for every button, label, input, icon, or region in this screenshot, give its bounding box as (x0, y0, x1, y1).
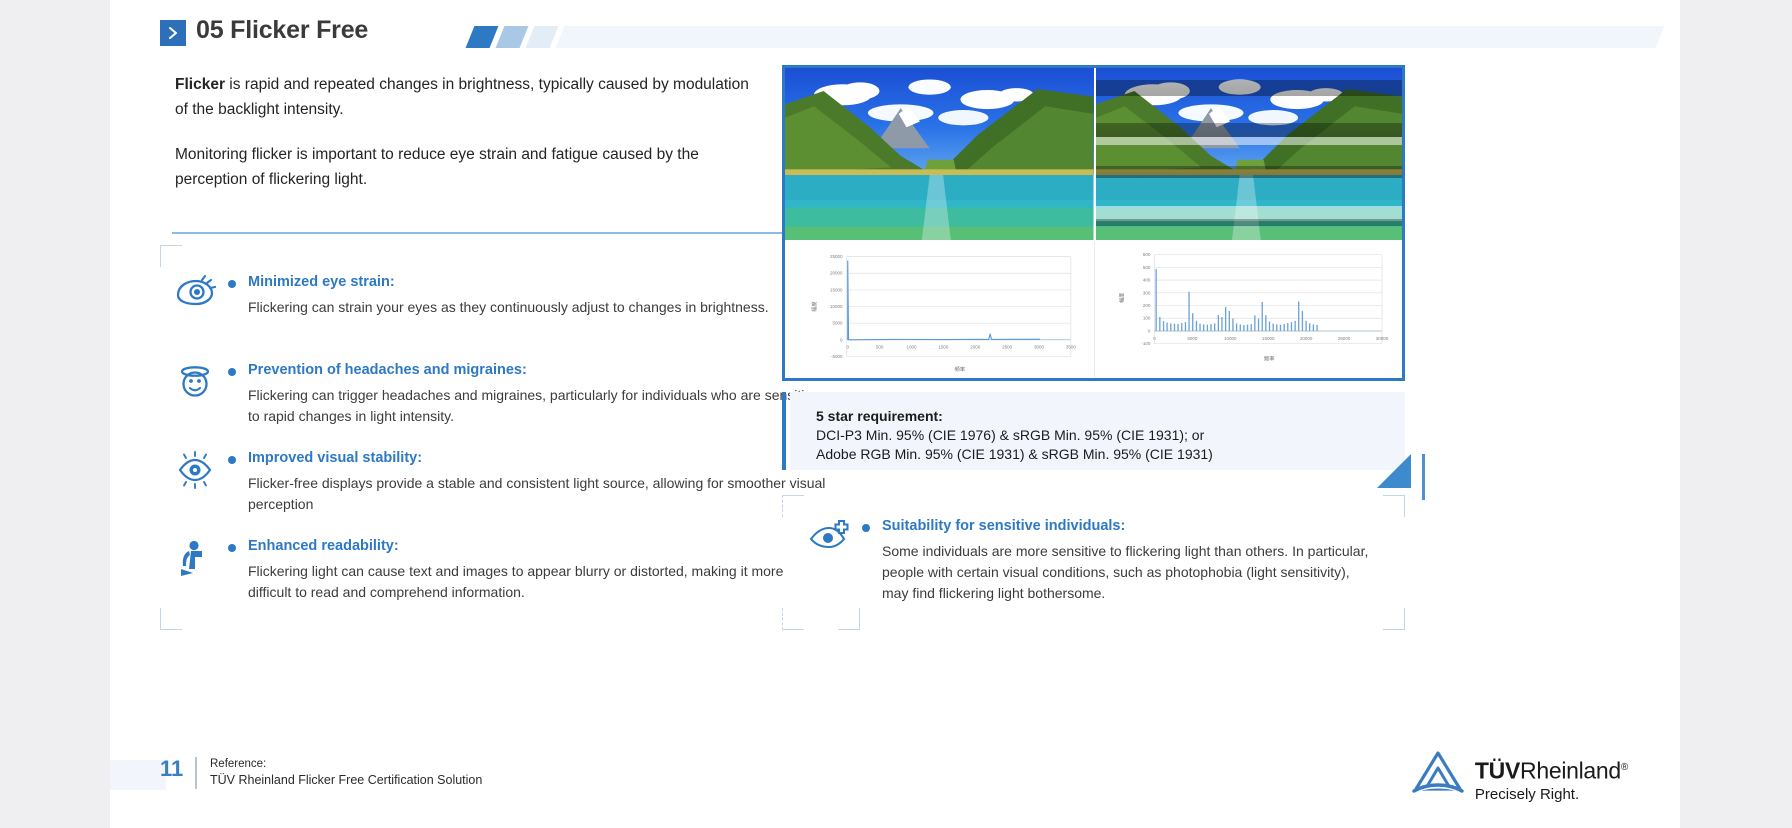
svg-text:3500: 3500 (1066, 345, 1077, 350)
deco-stripe-2 (496, 26, 529, 48)
flicker-band (1096, 123, 1403, 137)
flicker-comparison-panel: 25000 20000 15000 10000 5000 0 -5000 0 5… (782, 65, 1405, 381)
benefit-marker (854, 517, 878, 535)
deco-stripe-3 (526, 26, 559, 48)
benefit-marker (220, 273, 244, 291)
slide-header: 05 Flicker Free (160, 12, 1660, 58)
bullet-dot (228, 544, 236, 552)
intro-paragraph-1-rest: is rapid and repeated changes in brightn… (175, 76, 749, 118)
bracket-top-left (782, 495, 804, 517)
connector-line (170, 186, 870, 242)
benefit-title: Enhanced readability: (248, 537, 830, 556)
svg-text:20000: 20000 (1299, 336, 1312, 341)
bracket-bottom-left (782, 608, 804, 630)
tuv-tagline: Precisely Right. (1475, 785, 1628, 805)
bullet-dot (228, 456, 236, 464)
right-margin (1680, 0, 1792, 828)
benefit-item-enhanced-readability: Enhanced readability: Flickering light c… (170, 537, 830, 623)
svg-text:5000: 5000 (1187, 336, 1198, 341)
screenshot-viewport: 05 Flicker Free Flicker is rapid and rep… (0, 0, 1792, 828)
svg-text:1500: 1500 (938, 345, 949, 350)
eye-rays-icon (170, 449, 220, 489)
intro-paragraph-2: Monitoring flicker is important to reduc… (175, 142, 765, 192)
benefit-text: Suitability for sensitive individuals: S… (878, 517, 1374, 604)
decorative-tick (1422, 454, 1425, 500)
benefit-text: Enhanced readability: Flickering light c… (244, 537, 830, 603)
svg-text:600: 600 (1142, 252, 1150, 257)
flicker-band (1096, 166, 1403, 178)
photo-flicker-free (785, 68, 1094, 240)
bracket-bottom-right (1383, 608, 1405, 630)
svg-text:2500: 2500 (1002, 345, 1013, 350)
svg-text:10000: 10000 (830, 304, 843, 309)
svg-text:15000: 15000 (1261, 336, 1274, 341)
svg-text:0: 0 (1153, 336, 1156, 341)
callout-body: 5 star requirement: DCI-P3 Min. 95% (CIE… (790, 392, 1405, 470)
svg-text:200: 200 (1142, 303, 1150, 308)
deco-stripe-4 (556, 26, 1665, 48)
tuv-brand-rest: Rheinland (1520, 758, 1621, 784)
footer-divider (195, 757, 197, 789)
flicker-band (1096, 80, 1403, 95)
benefit-title: Improved visual stability: (248, 449, 830, 468)
benefit-item-visual-stability: Improved visual stability: Flicker-free … (170, 449, 830, 537)
benefits-right-group: Suitability for sensitive individuals: S… (782, 495, 1405, 630)
chart-flicker-free-spectrum: 25000 20000 15000 10000 5000 0 -5000 0 5… (785, 241, 1094, 378)
eye-plus-icon (804, 517, 854, 551)
svg-text:2000: 2000 (970, 345, 981, 350)
spectrum-charts: 25000 20000 15000 10000 5000 0 -5000 0 5… (785, 240, 1402, 378)
reference-block: Reference: TÜV Rheinland Flicker Free Ce… (210, 757, 482, 789)
flicker-band-light (1096, 137, 1403, 146)
svg-text:500: 500 (1142, 265, 1150, 270)
svg-text:30000: 30000 (1375, 336, 1388, 341)
svg-text:1000: 1000 (906, 345, 917, 350)
svg-text:5000: 5000 (833, 321, 844, 326)
svg-text:25000: 25000 (1337, 336, 1350, 341)
svg-text:3000: 3000 (1034, 345, 1045, 350)
benefit-item-sensitive-individuals: Suitability for sensitive individuals: S… (804, 517, 1374, 617)
benefit-text: Improved visual stability: Flicker-free … (244, 449, 830, 515)
tuv-rheinland-logo: TÜVRheinland® Precisely Right. (1412, 748, 1628, 805)
svg-text:300: 300 (1142, 290, 1150, 295)
page-title: 05 Flicker Free (196, 16, 368, 45)
tuv-triangle-icon (1412, 748, 1464, 796)
bracket-top-right (1383, 495, 1405, 517)
benefits-left-group: Minimized eye strain: Flickering can str… (160, 245, 860, 630)
intro-strong: Flicker (175, 76, 225, 93)
intro-paragraph-1: Flicker is rapid and repeated changes in… (175, 72, 765, 122)
benefit-item-minimized-eye-strain: Minimized eye strain: Flickering can str… (170, 273, 830, 359)
flicker-band (1096, 219, 1403, 226)
svg-text:10000: 10000 (1224, 336, 1237, 341)
tuv-brand: TÜVRheinland® (1475, 755, 1628, 784)
benefit-body: Flicker-free displays provide a stable a… (248, 473, 830, 515)
benefit-item-prevention-headaches: Prevention of headaches and migraines: F… (170, 361, 830, 449)
svg-text:20000: 20000 (830, 271, 843, 276)
benefit-body: Flickering can strain your eyes as they … (248, 297, 830, 318)
svg-text:0: 0 (840, 337, 843, 342)
tuv-brand-bold: TÜV (1475, 758, 1520, 784)
happy-face-icon (170, 361, 220, 399)
svg-text:0: 0 (846, 345, 849, 350)
svg-text:频率: 频率 (954, 365, 965, 373)
benefit-text: Prevention of headaches and migraines: F… (244, 361, 830, 427)
svg-text:幅度: 幅度 (810, 302, 818, 312)
intro-text: Flicker is rapid and repeated changes in… (175, 72, 765, 192)
svg-text:100: 100 (1142, 316, 1150, 321)
header-decoration (470, 26, 1660, 48)
benefit-title: Suitability for sensitive individuals: (882, 517, 1374, 536)
benefit-title: Minimized eye strain: (248, 273, 830, 292)
benefit-marker (220, 361, 244, 379)
chart-flicker-spectrum: 600 500 400 300 200 100 0 -100 0 5000 (1094, 241, 1403, 378)
slide-page: 05 Flicker Free Flicker is rapid and rep… (110, 0, 1680, 828)
reference-label: Reference: (210, 757, 482, 772)
benefit-body: Some individuals are more sensitive to f… (882, 541, 1374, 604)
svg-text:500: 500 (876, 345, 884, 350)
benefit-title: Prevention of headaches and migraines: (248, 361, 830, 380)
page-number: 11 (160, 756, 183, 782)
benefit-marker (220, 537, 244, 555)
photo-with-flicker (1094, 68, 1403, 240)
chevron-right-icon (160, 20, 186, 46)
svg-text:25000: 25000 (830, 254, 843, 259)
five-star-requirement-callout: 5 star requirement: DCI-P3 Min. 95% (CIE… (782, 392, 1405, 470)
benefit-body: Flickering can trigger headaches and mig… (248, 385, 830, 427)
svg-text:幅度: 幅度 (1117, 293, 1125, 303)
bullet-dot (862, 524, 870, 532)
page-number-chip (110, 760, 166, 790)
svg-text:频率: 频率 (1263, 355, 1274, 363)
benefit-text: Minimized eye strain: Flickering can str… (244, 273, 830, 318)
svg-text:-100: -100 (1141, 341, 1151, 346)
photo-pair (785, 68, 1402, 240)
tuv-wordmark: TÜVRheinland® Precisely Right. (1475, 748, 1628, 805)
svg-text:0: 0 (1147, 329, 1150, 334)
slide-footer: 11 Reference: TÜV Rheinland Flicker Free… (110, 744, 1680, 828)
requirement-title: 5 star requirement: (816, 407, 1405, 426)
benefit-body: Flickering light can cause text and imag… (248, 561, 830, 603)
requirement-line-2: Adobe RGB Min. 95% (CIE 1931) & sRGB Min… (816, 445, 1405, 464)
bullet-dot (228, 368, 236, 376)
deco-stripe-1 (466, 26, 499, 48)
decorative-triangle (1377, 454, 1411, 488)
registered-mark: ® (1621, 762, 1628, 773)
svg-text:400: 400 (1142, 278, 1150, 283)
reference-text: TÜV Rheinland Flicker Free Certification… (210, 772, 482, 789)
requirement-line-1: DCI-P3 Min. 95% (CIE 1976) & sRGB Min. 9… (816, 426, 1405, 445)
person-reading-icon (170, 537, 220, 577)
photo-scenery (785, 68, 1094, 240)
benefit-marker (220, 449, 244, 467)
bullet-dot (228, 280, 236, 288)
svg-text:15000: 15000 (830, 288, 843, 293)
bracket-top-left (160, 245, 182, 267)
eye-strain-icon (170, 273, 220, 309)
callout-accent-bar (782, 392, 786, 470)
svg-text:-5000: -5000 (831, 354, 843, 359)
